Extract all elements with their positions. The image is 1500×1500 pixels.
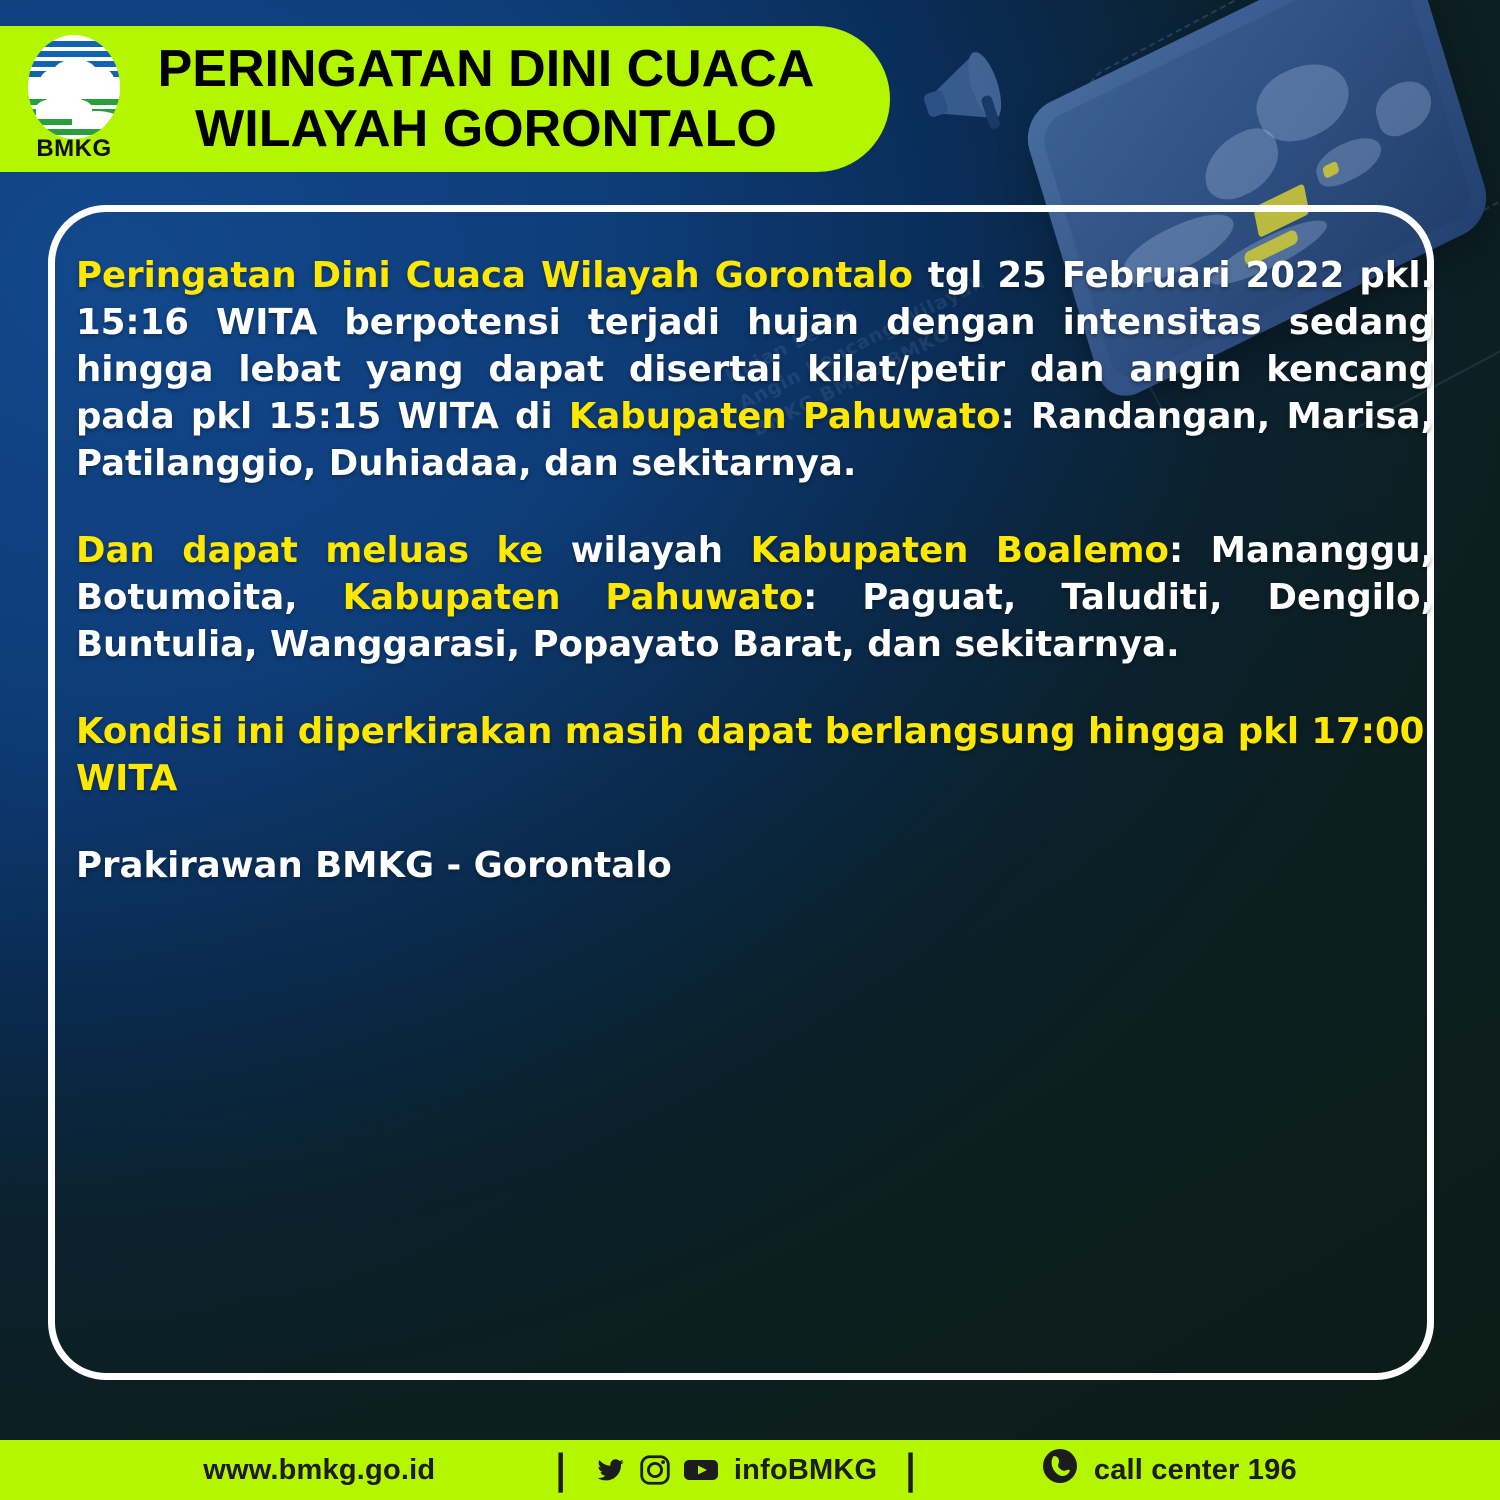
instagram-icon[interactable] <box>638 1453 672 1487</box>
warning-content: Peringatan Dini Cuaca Wilayah Gorontalo … <box>76 252 1434 929</box>
page-title-line-1: PERINGATAN DINI CUACA <box>152 39 820 99</box>
footer-bar: www.bmkg.go.id | infoBMKG | call center … <box>0 1440 1500 1500</box>
logo-circle <box>28 35 120 139</box>
paragraph-1-highlight-2: Kabupaten Pahuwato <box>569 396 1001 437</box>
weather-warning-poster: Hujan Lebat Angin Kencang Wilayah BMKG B… <box>0 0 1500 1500</box>
phone-icon <box>1040 1446 1080 1494</box>
page-title-line-2: WILAYAH GORONTALO <box>152 99 820 159</box>
twitter-icon[interactable] <box>594 1453 628 1487</box>
warning-signature: Prakirawan BMKG - Gorontalo <box>76 842 1434 889</box>
website-link[interactable]: www.bmkg.go.id <box>203 1454 435 1487</box>
warning-paragraph-2: Dan dapat meluas ke wilayah Kabupaten Bo… <box>76 527 1434 668</box>
footer-separator-1: | <box>553 1450 568 1490</box>
social-icons <box>594 1453 720 1487</box>
warning-paragraph-1: Peringatan Dini Cuaca Wilayah Gorontalo … <box>76 252 1434 487</box>
header-titles: PERINGATAN DINI CUACA WILAYAH GORONTALO <box>152 39 890 159</box>
paragraph-2-text-1: wilayah <box>543 530 750 571</box>
call-center-label: call center 196 <box>1094 1454 1297 1487</box>
call-center-block[interactable]: call center 196 <box>1040 1446 1297 1494</box>
bmkg-logo-icon: BMKG <box>18 33 130 165</box>
logo-label: BMKG <box>36 135 111 163</box>
footer-separator-2: | <box>903 1450 918 1490</box>
paragraph-2-highlight-2: Kabupaten Boalemo <box>751 530 1169 571</box>
warning-paragraph-3: Kondisi ini diperkirakan masih dapat ber… <box>76 708 1434 802</box>
header-banner: BMKG PERINGATAN DINI CUACA WILAYAH GORON… <box>0 26 890 172</box>
paragraph-1-highlight-1: Peringatan Dini Cuaca Wilayah Gorontalo <box>76 255 913 296</box>
youtube-icon[interactable] <box>682 1453 720 1487</box>
social-handle[interactable]: infoBMKG <box>734 1454 877 1487</box>
paragraph-2-highlight-3: Kabupaten Pahuwato <box>343 577 803 618</box>
paragraph-2-highlight-1: Dan dapat meluas ke <box>76 530 543 571</box>
